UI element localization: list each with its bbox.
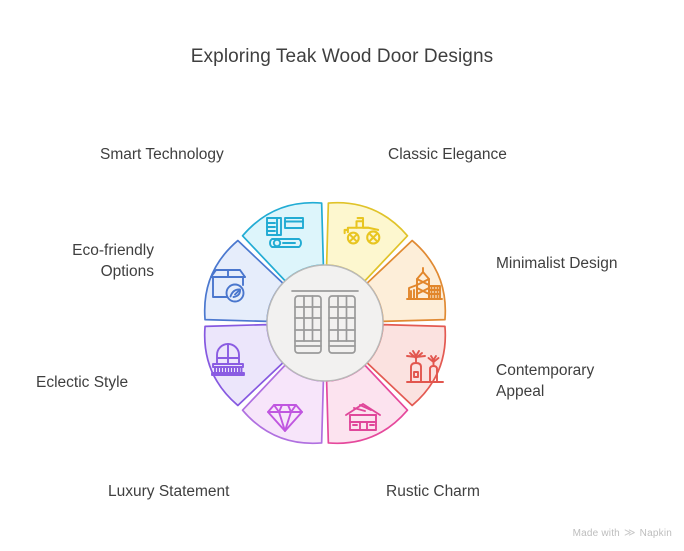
petal-label-eco-friendly-options[interactable]: Eco-friendly Options [20,240,154,282]
petal-label-luxury-statement[interactable]: Luxury Statement [108,481,229,502]
diagram-canvas: Exploring Teak Wood Door Designs [0,0,684,551]
watermark-prefix: Made with [573,528,620,539]
petal-label-minimalist-design[interactable]: Minimalist Design [496,253,617,274]
watermark-brand: Napkin [640,528,672,539]
petal-label-rustic-charm[interactable]: Rustic Charm [386,481,480,502]
petal-label-smart-technology[interactable]: Smart Technology [100,144,224,165]
center-hub [267,265,383,381]
petal-label-classic-elegance[interactable]: Classic Elegance [388,144,507,165]
petal-label-contemporary-appeal[interactable]: Contemporary Appeal [496,360,646,402]
napkin-watermark: Made with ≫ Napkin [573,528,672,539]
petal-label-eclectic-style[interactable]: Eclectic Style [36,372,128,393]
napkin-logo-icon: ≫ [624,528,636,539]
